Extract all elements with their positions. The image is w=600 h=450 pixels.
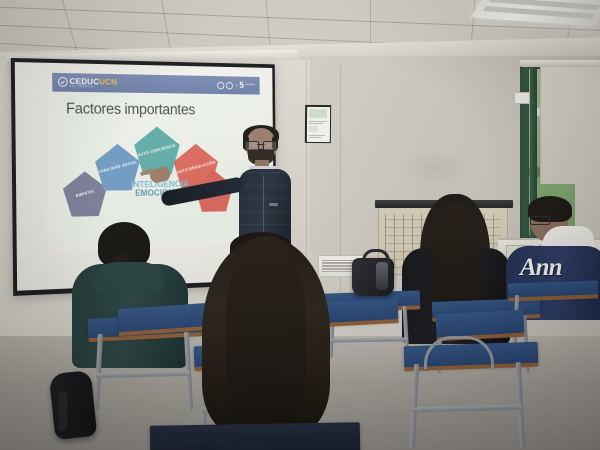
hood <box>94 262 164 292</box>
blind-roller[interactable] <box>520 60 600 67</box>
handbag[interactable] <box>352 258 394 296</box>
desk[interactable] <box>508 280 598 298</box>
years-label: Acreditada <box>245 84 255 87</box>
brand-suffix: UCN <box>99 76 117 86</box>
backpack[interactable] <box>49 370 98 440</box>
slide-header: CEDUCUCN SOY TÉCNICO † 5 Acreditada <box>52 73 260 95</box>
classroom-photo: CEDUCUCN SOY TÉCNICO † 5 Acreditada <box>0 0 600 450</box>
ceduc-logo: CEDUCUCN SOY TÉCNICO <box>58 77 117 89</box>
years-number: 5 <box>239 81 243 89</box>
student-left-hoodie <box>70 226 190 376</box>
slide-title: Factores importantes <box>66 101 260 120</box>
desk-foreground[interactable] <box>150 422 360 450</box>
ceiling-light-icon <box>470 0 600 27</box>
framed-document <box>305 105 331 143</box>
jacket-lettering: Ann <box>520 254 561 282</box>
chair-back[interactable] <box>435 310 524 339</box>
check-circle-icon <box>58 77 68 87</box>
student-hair-front <box>226 236 306 422</box>
accreditation-badges: † 5 Acreditada <box>217 81 255 90</box>
student-center-longhair <box>196 236 336 450</box>
seal-icon <box>226 81 233 89</box>
accreditation-icon: † <box>235 83 237 88</box>
glasses-icon <box>530 216 550 225</box>
wall-outlet-icon <box>514 92 530 104</box>
glasses-icon <box>245 141 277 149</box>
seal-icon <box>217 81 224 89</box>
